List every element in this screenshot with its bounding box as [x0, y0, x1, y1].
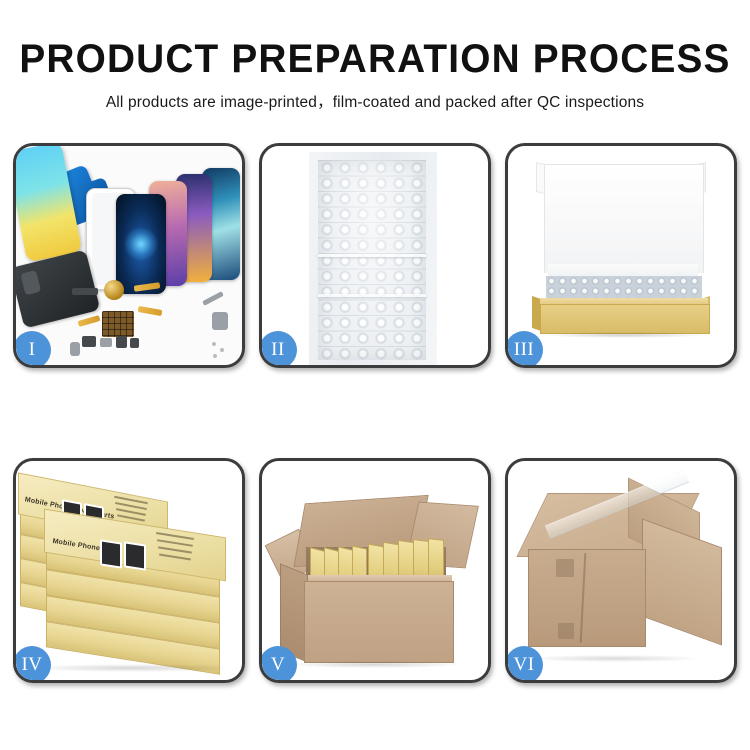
small-part-icon-3 [116, 336, 127, 348]
process-step-card-2: II [259, 143, 491, 368]
sealed-carton-side [642, 518, 722, 645]
page-subtitle: All products are image-printed，film-coat… [0, 80, 750, 112]
sealed-carton-front [528, 549, 646, 647]
sim-tray-icon [70, 342, 80, 356]
tweezers-icon [202, 291, 224, 306]
copper-coil-icon [104, 280, 124, 300]
step-badge-3: III [508, 331, 543, 365]
step-badge-6: VI [508, 646, 543, 680]
phone-dark-swirl-icon [116, 194, 166, 294]
process-step-card-5: V [259, 458, 491, 683]
page-title: PRODUCT PREPARATION PROCESS [11, 0, 739, 80]
flex-cable-icon-2 [138, 306, 163, 316]
box-screen-graphic-2b [124, 541, 146, 570]
flex-cable-icon-3 [78, 315, 101, 327]
phone-large-colorful-icon [16, 146, 82, 262]
step-badge-1: I [16, 331, 51, 365]
process-step-card-6: VI [505, 458, 737, 683]
sealed-carton-shadow [530, 655, 698, 662]
step-1-illustration: I [16, 146, 242, 365]
product-preparation-infographic: PRODUCT PREPARATION PROCESS All products… [0, 0, 750, 750]
step-5-illustration: V [262, 461, 488, 680]
box-shadow [542, 332, 706, 338]
step-badge-5: V [262, 646, 297, 680]
bubble-wrap-seam-2 [318, 294, 426, 297]
small-part-icon-1 [82, 336, 96, 347]
carton-shadow [288, 661, 460, 668]
process-step-grid: I II [13, 143, 737, 683]
bubble-wrap-bubbles-icon [318, 160, 426, 360]
step-2-illustration: II [262, 146, 488, 365]
step-6-illustration: VI [508, 461, 734, 680]
tool-icon [212, 312, 228, 330]
speaker-module-icon [72, 288, 98, 295]
chip-grid-icon [102, 311, 134, 337]
step-badge-2: II [262, 331, 297, 365]
screw-icon-2 [220, 348, 224, 352]
carton-front-panel [304, 581, 454, 663]
carton-fold-nub-2 [558, 623, 574, 639]
process-step-card-3: III [505, 143, 737, 368]
screw-icon-1 [212, 342, 216, 346]
box-front-panel [540, 304, 710, 334]
process-step-card-4: Mobile Phone Spare Parts Mobile Phone Sp… [13, 458, 245, 683]
stack-shadow [30, 664, 230, 672]
box-lid-panel [544, 164, 704, 273]
screw-icon-3 [213, 354, 217, 358]
bubble-wrap-seam-1 [318, 254, 426, 257]
small-part-icon-2 [100, 338, 112, 347]
step-badge-4: IV [16, 646, 51, 680]
step-3-illustration: III [508, 146, 734, 365]
process-step-card-1: I [13, 143, 245, 368]
step-4-illustration: Mobile Phone Spare Parts Mobile Phone Sp… [16, 461, 242, 680]
header: PRODUCT PREPARATION PROCESS All products… [0, 0, 750, 112]
box-screen-graphic-2a [100, 539, 122, 568]
small-part-icon-4 [130, 338, 139, 348]
carton-fold-nub-1 [556, 559, 574, 577]
